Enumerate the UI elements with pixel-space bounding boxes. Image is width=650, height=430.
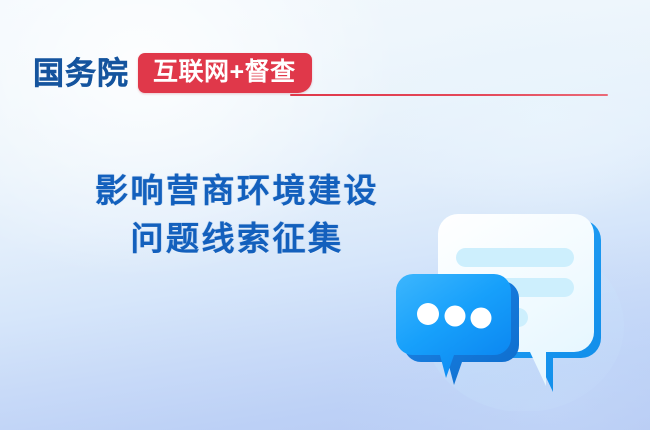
campaign-badge-label: 互联网+督查 <box>153 60 296 85</box>
chat-bubbles-illustration <box>396 196 626 411</box>
header-divider-rule <box>290 94 608 96</box>
campaign-badge: 互联网+督查 <box>138 53 312 93</box>
organization-name: 国务院 <box>33 58 129 89</box>
banner-header: 国务院 互联网+督查 <box>33 52 312 94</box>
campaign-banner: 国务院 互联网+督查 影响营商环境建设 问题线索征集 <box>0 0 650 430</box>
